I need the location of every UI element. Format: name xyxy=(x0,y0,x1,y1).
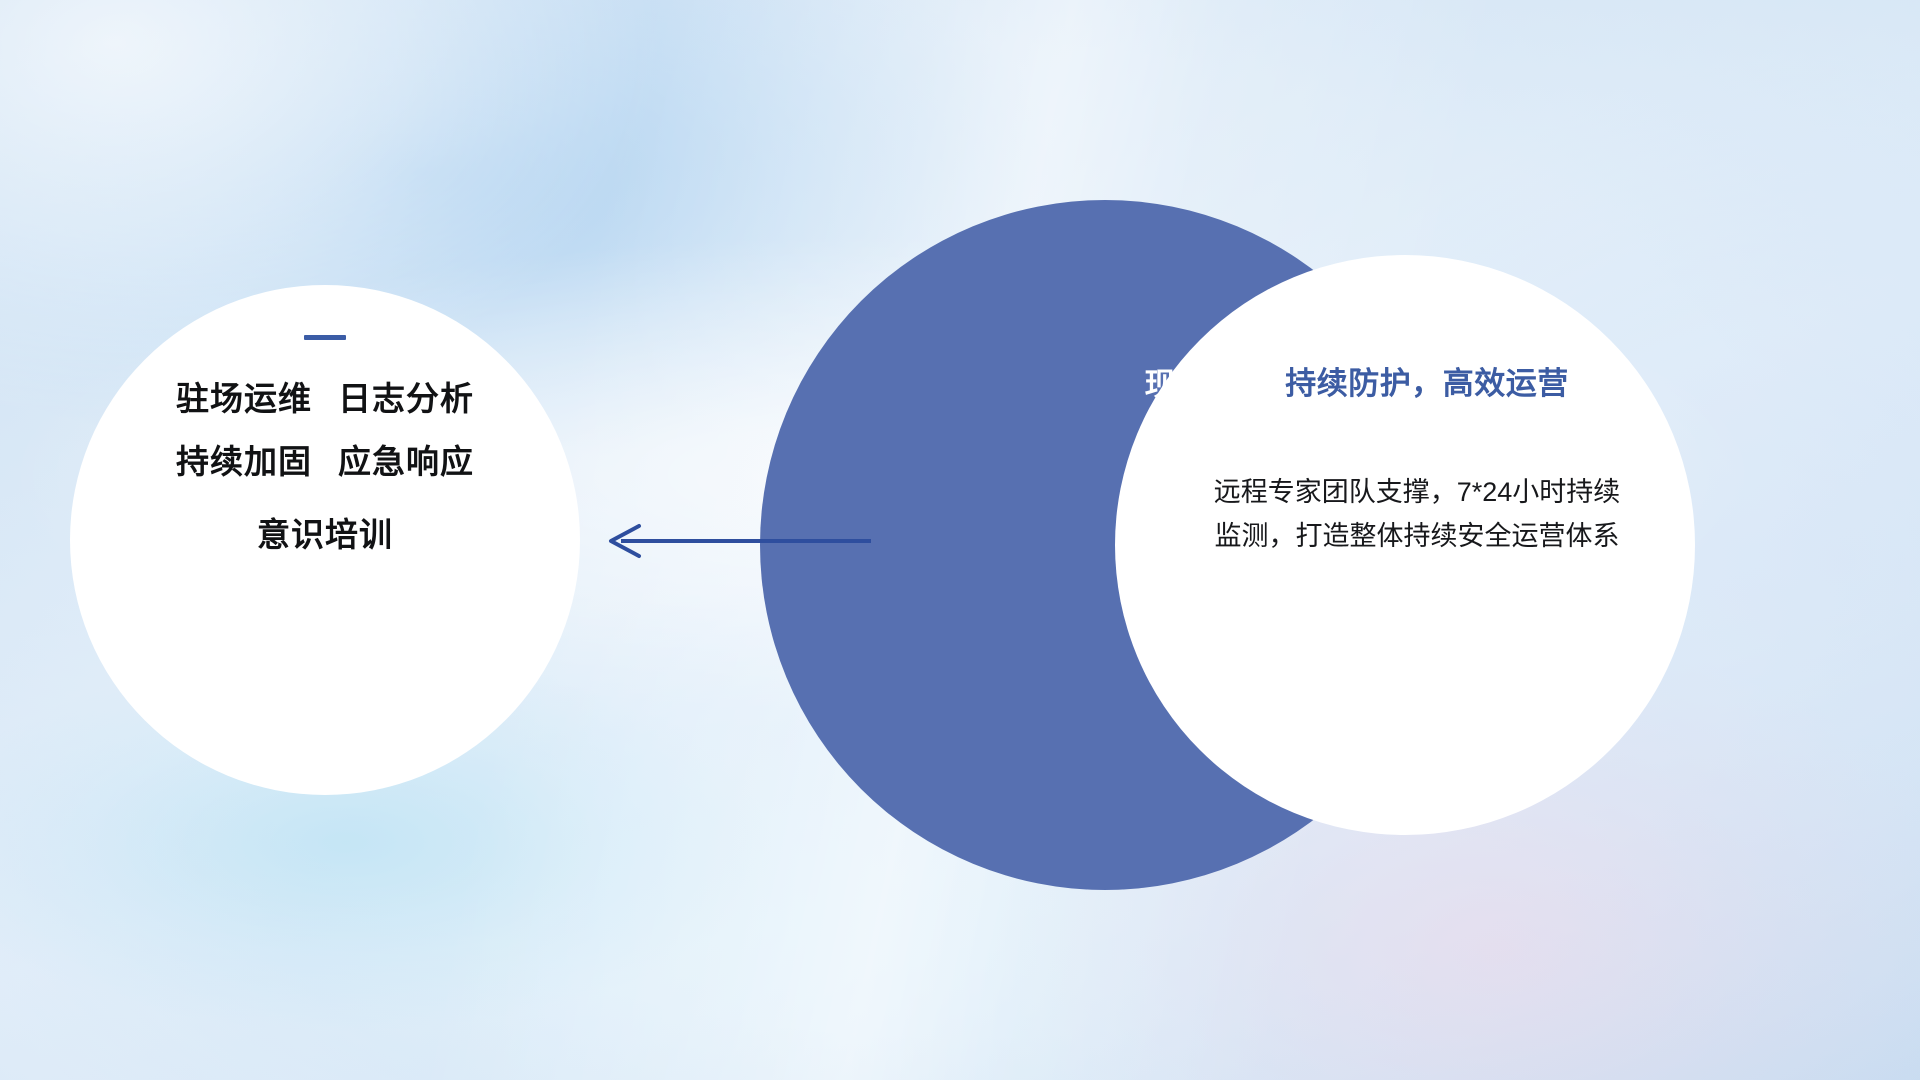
capability-row-2: 持续加固应急响应 xyxy=(176,445,474,478)
capability-row-3: 意识培训 xyxy=(257,518,393,551)
capability-label-onsite-ops: 驻场运维 xyxy=(176,380,312,417)
capability-label-log-analysis: 日志分析 xyxy=(338,380,474,417)
divider-dash-icon xyxy=(304,335,346,340)
flow-arrow-left-icon xyxy=(595,518,875,564)
capability-label-continuous-hardening: 持续加固 xyxy=(176,443,312,480)
slide-canvas: 驻场运维日志分析 持续加固应急响应 意识培训 现场监测，快速响应 安全专家现场保… xyxy=(0,0,1920,1080)
right-circle-body-text: 远程专家团队支撑，7*24小时持续监测，打造整体持续安全运营体系 xyxy=(1178,471,1632,558)
capability-label-emergency-response: 应急响应 xyxy=(338,443,474,480)
capability-row-1: 驻场运维日志分析 xyxy=(176,382,474,415)
right-circle-heading: 持续防护，高效运营 xyxy=(1241,367,1569,401)
right-circle-content: 持续防护，高效运营 远程专家团队支撑，7*24小时持续监测，打造整体持续安全运营… xyxy=(1115,255,1695,835)
capability-label-awareness-training: 意识培训 xyxy=(257,516,393,553)
right-continuous-protection-circle[interactable]: 持续防护，高效运营 远程专家团队支撑，7*24小时持续监测，打造整体持续安全运营… xyxy=(1115,255,1695,835)
left-circle-content: 驻场运维日志分析 持续加固应急响应 意识培训 xyxy=(70,285,580,795)
left-capability-circle[interactable]: 驻场运维日志分析 持续加固应急响应 意识培训 xyxy=(70,285,580,795)
